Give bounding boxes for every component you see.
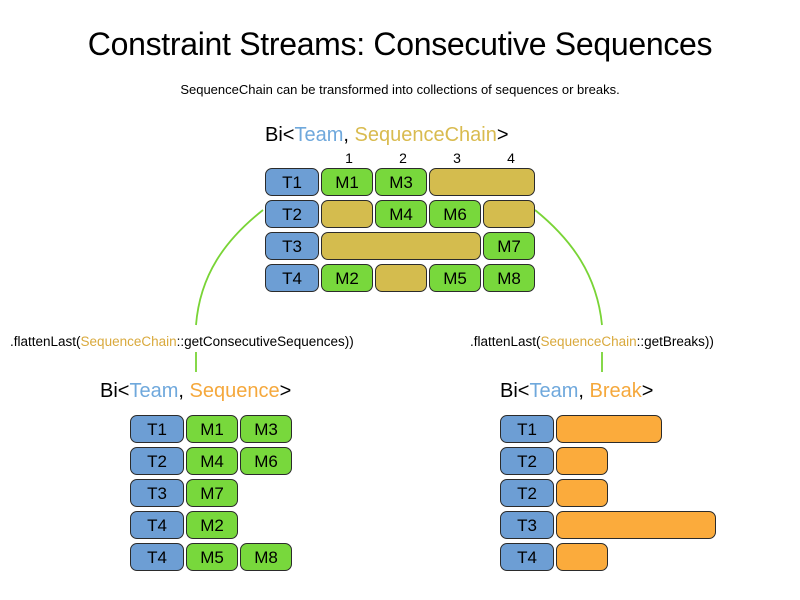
chain-column-header-4: 4	[486, 150, 536, 166]
chain-match-cell-M7: M7	[483, 232, 535, 260]
chain-match-cell-M8: M8	[483, 264, 535, 292]
break-team-cell-T4: T4	[500, 543, 554, 571]
sequence-sig-prefix: Bi<	[100, 380, 129, 402]
break-type-signature: Bi<Team, Break>	[500, 380, 653, 403]
sequence-sig-suffix: >	[280, 380, 292, 402]
chain-column-header-2: 2	[378, 150, 428, 166]
break-team-cell-T1: T1	[500, 415, 554, 443]
break-bar	[556, 543, 608, 571]
sequence-match-cell-M1: M1	[186, 415, 238, 443]
chain-team-cell-T1: T1	[265, 168, 319, 196]
break-sig-prefix: Bi<	[500, 380, 529, 402]
sequence-team-cell-T1: T1	[130, 415, 184, 443]
chain-gap-cell	[483, 200, 535, 228]
chain-match-cell-M4: M4	[375, 200, 427, 228]
chain-gap-cell	[321, 232, 481, 260]
break-sig-suffix: >	[642, 380, 654, 402]
chain-sig-generic-chain: SequenceChain	[355, 124, 497, 146]
chain-row: T1M1M3	[265, 168, 322, 198]
sequence-team-cell-T2: T2	[130, 447, 184, 475]
break-sig-generic-team: Team	[529, 380, 578, 402]
chain-sig-separator: ,	[343, 124, 354, 146]
connector-right-curve	[535, 210, 602, 325]
chain-row: T3M7	[265, 232, 322, 262]
chain-match-cell-M1: M1	[321, 168, 373, 196]
transform-right-prefix: .flattenLast(	[470, 334, 541, 349]
sequence-type-signature: Bi<Team, Sequence>	[100, 380, 291, 403]
sequence-team-cell-T4: T4	[130, 543, 184, 571]
sequence-match-cell-M8: M8	[240, 543, 292, 571]
page-title: Constraint Streams: Consecutive Sequence…	[0, 26, 800, 63]
break-sig-generic-break: Break	[590, 380, 642, 402]
break-team-cell-T3: T3	[500, 511, 554, 539]
break-bar	[556, 479, 608, 507]
transform-left-suffix: ::getConsecutiveSequences))	[177, 334, 354, 349]
sequence-team-cell-T4: T4	[130, 511, 184, 539]
break-bar	[556, 447, 608, 475]
chain-team-cell-T4: T4	[265, 264, 319, 292]
page-subtitle: SequenceChain can be transformed into co…	[0, 82, 800, 97]
transform-right-suffix: ::getBreaks))	[637, 334, 714, 349]
chain-match-cell-M5: M5	[429, 264, 481, 292]
sequence-match-cell-M3: M3	[240, 415, 292, 443]
chain-sig-generic-team: Team	[294, 124, 343, 146]
chain-column-header-1: 1	[324, 150, 374, 166]
sequence-sig-separator: ,	[178, 380, 189, 402]
chain-row: T4M2M5M8	[265, 264, 322, 294]
chain-sig-prefix: Bi<	[265, 124, 294, 146]
chain-column-header-3: 3	[432, 150, 482, 166]
sequence-team-cell-T3: T3	[130, 479, 184, 507]
break-bar	[556, 511, 716, 539]
chain-match-cell-M2: M2	[321, 264, 373, 292]
chain-rows: T1M1M3T2M4M6T3M7T4M2M5M8	[265, 168, 322, 294]
chain-type-signature: Bi<Team, SequenceChain>	[265, 124, 509, 147]
connector-left-curve	[196, 210, 263, 325]
chain-team-cell-T2: T2	[265, 200, 319, 228]
transform-left-prefix: .flattenLast(	[10, 334, 81, 349]
chain-gap-cell	[321, 200, 373, 228]
transform-right-type: SequenceChain	[541, 334, 637, 349]
sequence-sig-generic-sequence: Sequence	[190, 380, 280, 402]
transform-left-type: SequenceChain	[81, 334, 177, 349]
chain-sig-suffix: >	[497, 124, 509, 146]
break-team-cell-T2: T2	[500, 447, 554, 475]
sequence-match-cell-M2: M2	[186, 511, 238, 539]
break-bar	[556, 415, 662, 443]
sequence-match-cell-M5: M5	[186, 543, 238, 571]
sequence-sig-generic-team: Team	[129, 380, 178, 402]
chain-gap-cell	[429, 168, 535, 196]
chain-grid: 1234 T1M1M3T2M4M6T3M7T4M2M5M8	[265, 150, 322, 296]
break-sig-separator: ,	[578, 380, 589, 402]
sequence-match-cell-M6: M6	[240, 447, 292, 475]
transform-label-breaks[interactable]: .flattenLast(SequenceChain::getBreaks))	[470, 334, 714, 349]
break-team-cell-T2: T2	[500, 479, 554, 507]
transform-label-sequences[interactable]: .flattenLast(SequenceChain::getConsecuti…	[10, 334, 354, 349]
chain-match-cell-M6: M6	[429, 200, 481, 228]
chain-match-cell-M3: M3	[375, 168, 427, 196]
sequence-match-cell-M4: M4	[186, 447, 238, 475]
chain-row: T2M4M6	[265, 200, 322, 230]
sequence-match-cell-M7: M7	[186, 479, 238, 507]
chain-gap-cell	[375, 264, 427, 292]
chain-team-cell-T3: T3	[265, 232, 319, 260]
